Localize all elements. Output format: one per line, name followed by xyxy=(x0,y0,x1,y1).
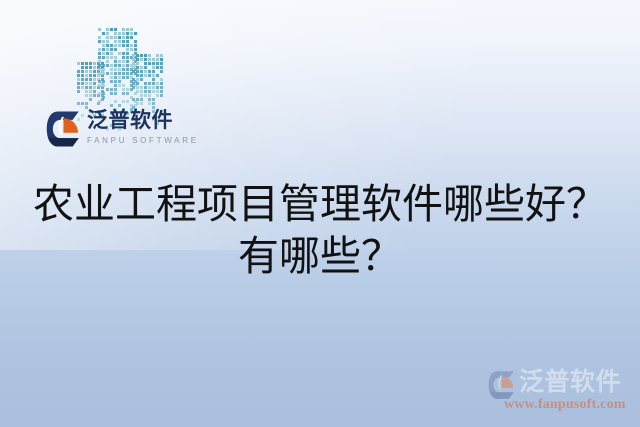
skyline-pixel xyxy=(148,54,151,57)
skyline-pixel xyxy=(152,70,155,73)
skyline-pixel xyxy=(89,82,92,85)
skyline-pixel xyxy=(144,66,147,69)
skyline-pixel xyxy=(118,76,121,79)
skyline-pixel xyxy=(102,64,105,67)
skyline-pixel xyxy=(160,70,163,73)
skyline-pixel xyxy=(118,84,121,87)
skyline-pixel xyxy=(140,94,143,97)
skyline-pixel xyxy=(85,70,88,73)
skyline-pixel xyxy=(126,52,129,55)
skyline-pixel xyxy=(144,90,147,93)
skyline-pixel xyxy=(136,90,139,93)
skyline-pixel xyxy=(98,100,101,103)
skyline-pixel xyxy=(81,70,84,73)
skyline-pixel xyxy=(98,60,101,63)
skyline-pixel xyxy=(122,36,125,39)
skyline-pixel xyxy=(156,86,159,89)
skyline-pixel xyxy=(102,92,105,95)
skyline-pixel xyxy=(144,94,147,97)
skyline-pixel xyxy=(98,56,101,59)
skyline-pixel xyxy=(118,64,121,67)
skyline-pixel xyxy=(136,98,139,101)
skyline-pixel xyxy=(114,40,117,43)
skyline-pixel xyxy=(122,76,125,79)
skyline-pixel xyxy=(140,78,143,81)
skyline-pixel xyxy=(89,70,92,73)
skyline-pixel xyxy=(114,84,117,87)
skyline-pixel xyxy=(106,56,109,59)
skyline-pixel xyxy=(102,32,105,35)
skyline-pixel xyxy=(106,64,109,67)
skyline-pixel xyxy=(160,86,163,89)
skyline-pixel xyxy=(110,64,113,67)
skyline-pixel xyxy=(136,58,139,61)
skyline-pixel xyxy=(98,84,101,87)
fanpu-logo: 泛普软件 FANPU SOFTWARE xyxy=(46,108,191,152)
skyline-pixel xyxy=(122,68,125,71)
skyline-pixel xyxy=(81,102,84,105)
skyline-pixel xyxy=(134,44,137,47)
skyline-pixel xyxy=(89,74,92,77)
skyline-pixel xyxy=(160,94,163,97)
skyline-pixel xyxy=(144,86,147,89)
headline: 农业工程项目管理软件哪些好？ 有哪些？ xyxy=(0,178,640,282)
skyline-pixel xyxy=(85,82,88,85)
skyline-pixel xyxy=(140,70,143,73)
skyline-pixel xyxy=(152,66,155,69)
skyline-pixel xyxy=(126,36,129,39)
skyline-pixel xyxy=(148,74,151,77)
skyline-pixel xyxy=(136,54,139,57)
skyline-pixel xyxy=(122,92,125,95)
skyline-pixel xyxy=(144,62,147,65)
skyline-pixel xyxy=(156,58,159,61)
skyline-pixel xyxy=(122,28,125,31)
skyline-pixel xyxy=(98,52,101,55)
skyline-pixel xyxy=(89,62,92,65)
fanpu-hexagon-mark-icon xyxy=(46,110,84,148)
skyline-pixel xyxy=(118,68,121,71)
skyline-pixel xyxy=(136,78,139,81)
skyline-pixel xyxy=(134,32,137,35)
skyline-pixel xyxy=(122,100,125,103)
skyline-pixel xyxy=(132,78,135,81)
skyline-pixel xyxy=(118,80,121,83)
skyline-pixel xyxy=(110,68,113,71)
skyline-pixel xyxy=(102,80,105,83)
skyline-pixel xyxy=(89,78,92,81)
skyline-pixel xyxy=(106,40,109,43)
skyline-pixel xyxy=(118,72,121,75)
skyline-pixel xyxy=(148,70,151,73)
headline-line-2: 有哪些？ xyxy=(0,230,640,282)
footer-watermark: 泛普软件 www.fanpusoft.com xyxy=(488,368,640,414)
skyline-pixel xyxy=(122,56,125,59)
skyline-pixel xyxy=(152,62,155,65)
skyline-pixel xyxy=(89,66,92,69)
skyline-pixel xyxy=(110,92,113,95)
skyline-pixel xyxy=(98,92,101,95)
skyline-pixel xyxy=(93,86,96,89)
skyline-pixel xyxy=(148,98,151,101)
skyline-pixel xyxy=(132,86,135,89)
skyline-pixel xyxy=(77,90,80,93)
skyline-pixel xyxy=(102,44,105,47)
skyline-pixel xyxy=(106,88,109,91)
skyline-pixel xyxy=(140,86,143,89)
skyline-pixel xyxy=(89,86,92,89)
skyline-pixel xyxy=(106,28,109,31)
skyline-pixel xyxy=(122,32,125,35)
skyline-pixel xyxy=(98,64,101,67)
skyline-pixel xyxy=(132,70,135,73)
skyline-pixel xyxy=(93,78,96,81)
skyline-pixel xyxy=(102,68,105,71)
skyline-pixel xyxy=(126,32,129,35)
skyline-pixel xyxy=(122,52,125,55)
skyline-pixel xyxy=(140,74,143,77)
watermark-website-url: www.fanpusoft.com xyxy=(504,396,626,413)
skyline-pixel xyxy=(110,88,113,91)
skyline-pixel xyxy=(81,62,84,65)
skyline-pixel xyxy=(152,82,155,85)
skyline-pixel xyxy=(106,48,109,51)
skyline-pixel xyxy=(132,66,135,69)
skyline-pixel xyxy=(85,102,88,105)
skyline-pixel xyxy=(98,68,101,71)
skyline-pixel xyxy=(126,64,129,67)
banner-canvas: 泛普软件 FANPU SOFTWARE 农业工程项目管理软件哪些好？ 有哪些？ … xyxy=(0,0,640,427)
skyline-pixel xyxy=(126,100,129,103)
skyline-pixel xyxy=(81,66,84,69)
skyline-pixel xyxy=(118,32,121,35)
skyline-pixel xyxy=(102,56,105,59)
skyline-pixel xyxy=(160,78,163,81)
skyline-pixel xyxy=(122,60,125,63)
skyline-pixel xyxy=(136,86,139,89)
skyline-pixel xyxy=(118,44,121,47)
skyline-pixel xyxy=(102,48,105,51)
skyline-pixel xyxy=(114,76,117,79)
skyline-pixel xyxy=(114,68,117,71)
skyline-pixel xyxy=(118,104,121,107)
skyline-pixel xyxy=(110,80,113,83)
skyline-pixel xyxy=(130,44,133,47)
skyline-pixel xyxy=(118,36,121,39)
skyline-pixel xyxy=(98,36,101,39)
skyline-pixel xyxy=(130,28,133,31)
skyline-pixel xyxy=(106,36,109,39)
skyline-pixel xyxy=(106,72,109,75)
skyline-pixel xyxy=(114,88,117,91)
skyline-pixel xyxy=(148,58,151,61)
skyline-pixel xyxy=(148,82,151,85)
skyline-pixel xyxy=(93,82,96,85)
skyline-pixel xyxy=(114,44,117,47)
skyline-pixel xyxy=(126,68,129,71)
skyline-pixel xyxy=(148,94,151,97)
skyline-pixel xyxy=(81,82,84,85)
skyline-pixel xyxy=(152,74,155,77)
skyline-pixel xyxy=(140,90,143,93)
skyline-pixel xyxy=(106,52,109,55)
skyline-pixel xyxy=(148,86,151,89)
skyline-pixel xyxy=(114,48,117,51)
fanpu-logo-chinese-name: 泛普软件 xyxy=(87,108,191,133)
skyline-pixel xyxy=(93,90,96,93)
skyline-pixel xyxy=(130,48,133,51)
skyline-pixel xyxy=(122,40,125,43)
skyline-pixel xyxy=(144,70,147,73)
skyline-pixel xyxy=(77,70,80,73)
skyline-pixel xyxy=(156,90,159,93)
skyline-pixel xyxy=(156,62,159,65)
skyline-pixel xyxy=(152,78,155,81)
skyline-pixel xyxy=(102,84,105,87)
skyline-pixel xyxy=(126,92,129,95)
fanpu-logo-wordmarks: 泛普软件 FANPU SOFTWARE xyxy=(87,108,191,146)
skyline-pixel xyxy=(122,88,125,91)
skyline-pixel xyxy=(126,76,129,79)
skyline-pixel xyxy=(118,40,121,43)
skyline-pixel xyxy=(81,86,84,89)
skyline-pixel xyxy=(140,102,143,105)
skyline-pixel xyxy=(114,32,117,35)
skyline-pixel xyxy=(114,36,117,39)
skyline-pixel xyxy=(148,62,151,65)
skyline-pixel xyxy=(160,54,163,57)
skyline-pixel xyxy=(110,48,113,51)
skyline-pixel xyxy=(93,66,96,69)
skyline-pixel xyxy=(136,62,139,65)
skyline-pixel xyxy=(89,98,92,101)
skyline-pixel xyxy=(140,98,143,101)
skyline-pixel xyxy=(160,82,163,85)
skyline-pixel xyxy=(160,66,163,69)
skyline-pixel xyxy=(114,100,117,103)
skyline-pixel xyxy=(144,58,147,61)
skyline-pixel xyxy=(110,28,113,31)
skyline-pixel xyxy=(77,74,80,77)
pixel-city-skyline-graphic xyxy=(70,20,160,110)
skyline-pixel xyxy=(114,28,117,31)
skyline-pixel xyxy=(85,94,88,97)
watermark-chinese-name: 泛普软件 xyxy=(519,368,621,397)
skyline-pixel xyxy=(77,62,80,65)
skyline-pixel xyxy=(160,90,163,93)
skyline-pixel xyxy=(126,60,129,63)
skyline-pixel xyxy=(160,62,163,65)
skyline-pixel xyxy=(98,48,101,51)
skyline-pixel xyxy=(126,40,129,43)
skyline-pixel xyxy=(132,82,135,85)
skyline-pixel xyxy=(118,60,121,63)
skyline-pixel xyxy=(102,96,105,99)
skyline-pixel xyxy=(136,66,139,69)
skyline-pixel xyxy=(126,28,129,31)
skyline-pixel xyxy=(110,104,113,107)
skyline-pixel xyxy=(152,86,155,89)
skyline-pixel xyxy=(156,94,159,97)
skyline-pixel xyxy=(77,82,80,85)
skyline-pixel xyxy=(126,44,129,47)
skyline-pixel xyxy=(106,44,109,47)
skyline-pixel xyxy=(132,54,135,57)
skyline-pixel xyxy=(140,54,143,57)
skyline-pixel xyxy=(156,74,159,77)
skyline-pixel xyxy=(156,66,159,69)
skyline-pixel xyxy=(152,58,155,61)
skyline-pixel xyxy=(77,86,80,89)
skyline-pixel xyxy=(136,82,139,85)
skyline-pixel xyxy=(102,72,105,75)
skyline-pixel xyxy=(110,76,113,79)
skyline-pixel xyxy=(140,58,143,61)
skyline-pixel xyxy=(134,48,137,51)
skyline-pixel xyxy=(152,102,155,105)
skyline-pixel xyxy=(98,40,101,43)
fanpu-logo-english-name: FANPU SOFTWARE xyxy=(87,135,191,146)
skyline-pixel xyxy=(126,56,129,59)
skyline-pixel xyxy=(93,74,96,77)
skyline-pixel xyxy=(148,90,151,93)
skyline-pixel xyxy=(132,58,135,61)
skyline-pixel xyxy=(102,40,105,43)
skyline-pixel xyxy=(126,48,129,51)
skyline-pixel xyxy=(144,54,147,57)
skyline-pixel xyxy=(136,102,139,105)
skyline-pixel xyxy=(114,64,117,67)
skyline-pixel xyxy=(134,40,137,43)
skyline-pixel xyxy=(130,36,133,39)
skyline-pixel xyxy=(110,72,113,75)
skyline-pixel xyxy=(114,72,117,75)
skyline-pixel xyxy=(114,56,117,59)
skyline-pixel xyxy=(132,62,135,65)
skyline-pixel xyxy=(110,56,113,59)
skyline-pixel xyxy=(89,94,92,97)
skyline-pixel xyxy=(122,84,125,87)
skyline-pixel xyxy=(93,70,96,73)
skyline-pixel xyxy=(156,82,159,85)
headline-line-1: 农业工程项目管理软件哪些好？ xyxy=(0,178,640,230)
skyline-pixel xyxy=(98,80,101,83)
skyline-pixel xyxy=(102,52,105,55)
skyline-pixel xyxy=(122,72,125,75)
skyline-pixel xyxy=(85,78,88,81)
skyline-pixel xyxy=(93,62,96,65)
skyline-pixel xyxy=(114,60,117,63)
skyline-pixel xyxy=(85,62,88,65)
skyline-pixel xyxy=(98,72,101,75)
skyline-pixel xyxy=(156,54,159,57)
skyline-pixel xyxy=(98,28,101,31)
skyline-pixel xyxy=(126,72,129,75)
skyline-pixel xyxy=(110,44,113,47)
skyline-pixel xyxy=(152,90,155,93)
skyline-pixel xyxy=(93,94,96,97)
skyline-pixel xyxy=(132,98,135,101)
skyline-pixel xyxy=(114,92,117,95)
skyline-pixel xyxy=(136,70,139,73)
skyline-pixel xyxy=(144,82,147,85)
skyline-pixel xyxy=(126,88,129,91)
skyline-pixel xyxy=(77,102,80,105)
skyline-pixel xyxy=(85,74,88,77)
skyline-pixel xyxy=(85,86,88,89)
skyline-pixel xyxy=(77,78,80,81)
skyline-pixel xyxy=(81,74,84,77)
skyline-pixel xyxy=(114,80,117,83)
skyline-pixel xyxy=(85,66,88,69)
skyline-pixel xyxy=(122,44,125,47)
skyline-pixel xyxy=(85,90,88,93)
skyline-pixel xyxy=(106,60,109,63)
skyline-pixel xyxy=(89,90,92,93)
skyline-pixel xyxy=(140,66,143,69)
skyline-pixel xyxy=(160,58,163,61)
skyline-pixel xyxy=(110,36,113,39)
skyline-pixel xyxy=(118,52,121,55)
skyline-pixel xyxy=(81,78,84,81)
skyline-pixel xyxy=(130,32,133,35)
skyline-pixel xyxy=(152,98,155,101)
skyline-pixel xyxy=(144,74,147,77)
skyline-pixel xyxy=(136,74,139,77)
skyline-pixel xyxy=(148,102,151,105)
skyline-pixel xyxy=(110,52,113,55)
skyline-pixel xyxy=(122,64,125,67)
skyline-pixel xyxy=(106,32,109,35)
